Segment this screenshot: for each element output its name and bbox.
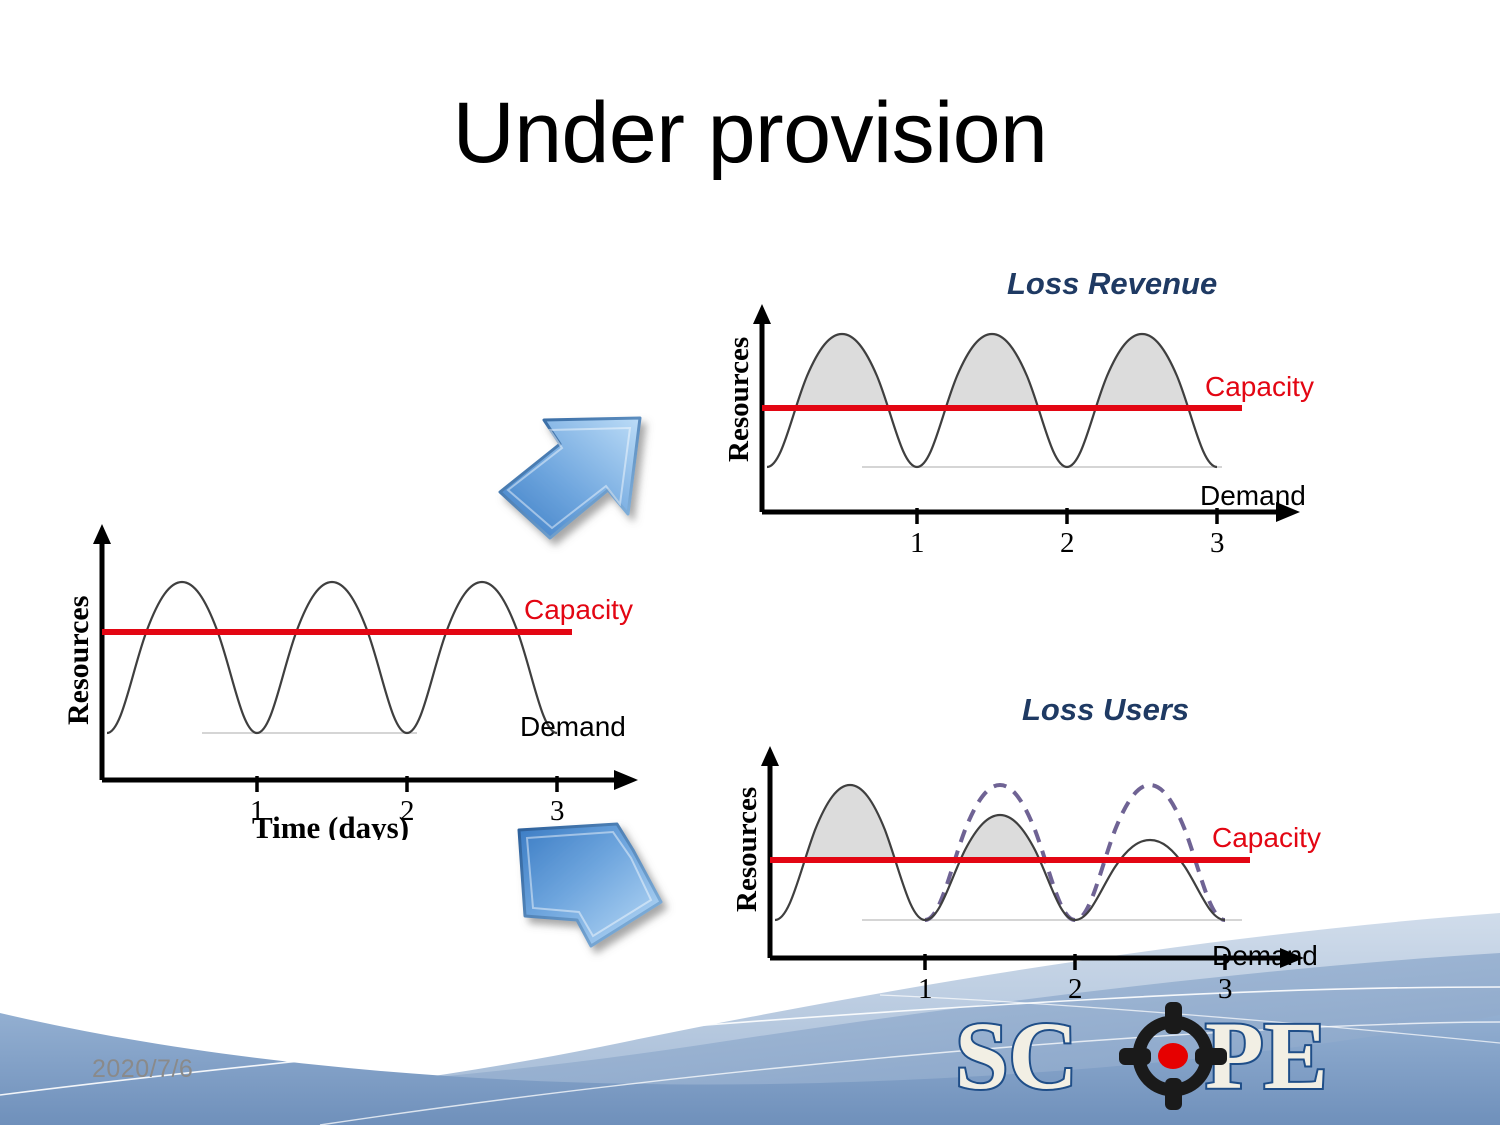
crosshair-tick-left: [1119, 1048, 1151, 1065]
chart-baseline-svg: Capacity Demand Resources 1 2 3 Time (da…: [62, 520, 662, 840]
scope-logo-text-left: SC: [955, 1002, 1078, 1109]
x-tick-label-3: 3: [1210, 527, 1225, 559]
page-title: Under provision: [0, 88, 1500, 178]
x-axis-label: Time (days): [252, 810, 409, 840]
y-axis-arrowhead: [93, 524, 111, 544]
demand-curve: [107, 582, 557, 733]
overflow-shading-group: [775, 785, 1075, 920]
overflow-shading: [767, 334, 1217, 467]
capacity-label: Capacity: [1212, 822, 1321, 853]
y-axis-arrowhead: [753, 304, 771, 324]
overflow-shading-peak-1: [775, 785, 925, 920]
chart-baseline-demand: Capacity Demand Resources 1 2 3 Time (da…: [62, 520, 662, 840]
demand-label: Demand: [520, 711, 626, 742]
x-tick-label-1: 1: [918, 973, 933, 1005]
crosshair-center-dot: [1158, 1043, 1188, 1069]
arrow-up-right-icon: [488, 404, 658, 564]
crosshair-tick-right: [1195, 1048, 1227, 1065]
chart-loss-revenue: Loss Revenue Capacity Demand Resources: [722, 262, 1342, 572]
chart-loss-users: Loss Users Capacity Demand Reso: [722, 690, 1342, 1020]
x-tick-label-1: 1: [910, 527, 925, 559]
capacity-label: Capacity: [524, 594, 633, 625]
demand-label: Demand: [1212, 940, 1318, 971]
x-tick-label-2: 2: [1060, 527, 1075, 559]
arrow-up-body: [500, 418, 640, 538]
arrow-down-body: [519, 824, 661, 946]
chart-title: Loss Users: [1022, 692, 1189, 727]
chart-title: Loss Revenue: [1007, 266, 1217, 301]
demand-label: Demand: [1200, 480, 1306, 511]
crosshair-tick-top: [1165, 1002, 1182, 1034]
chart-loss-revenue-svg: Loss Revenue Capacity Demand Resources: [722, 262, 1342, 572]
slide-date: 2020/7/6: [92, 1055, 193, 1084]
overflow-shading-peak-2: [925, 815, 1075, 920]
chart-loss-users-svg: Loss Users Capacity Demand Reso: [722, 690, 1342, 1020]
arrow-up-polygon: [500, 418, 640, 538]
crosshair-tick-bottom: [1165, 1078, 1182, 1110]
arrow-down-polygon: [519, 824, 661, 946]
y-axis-label: Resources: [723, 337, 755, 462]
overflow-shading-group: [767, 334, 1217, 467]
arrow-down-right-icon: [505, 812, 680, 972]
y-axis-label: Resources: [62, 596, 95, 725]
y-axis-arrowhead: [761, 746, 779, 766]
scope-logo: SC PE: [955, 1000, 1425, 1110]
y-axis-label: Resources: [731, 787, 763, 912]
x-axis-arrowhead: [614, 770, 638, 790]
capacity-label: Capacity: [1205, 371, 1314, 402]
slide-canvas: Under provision Capacity Demand Resource…: [0, 0, 1500, 1125]
